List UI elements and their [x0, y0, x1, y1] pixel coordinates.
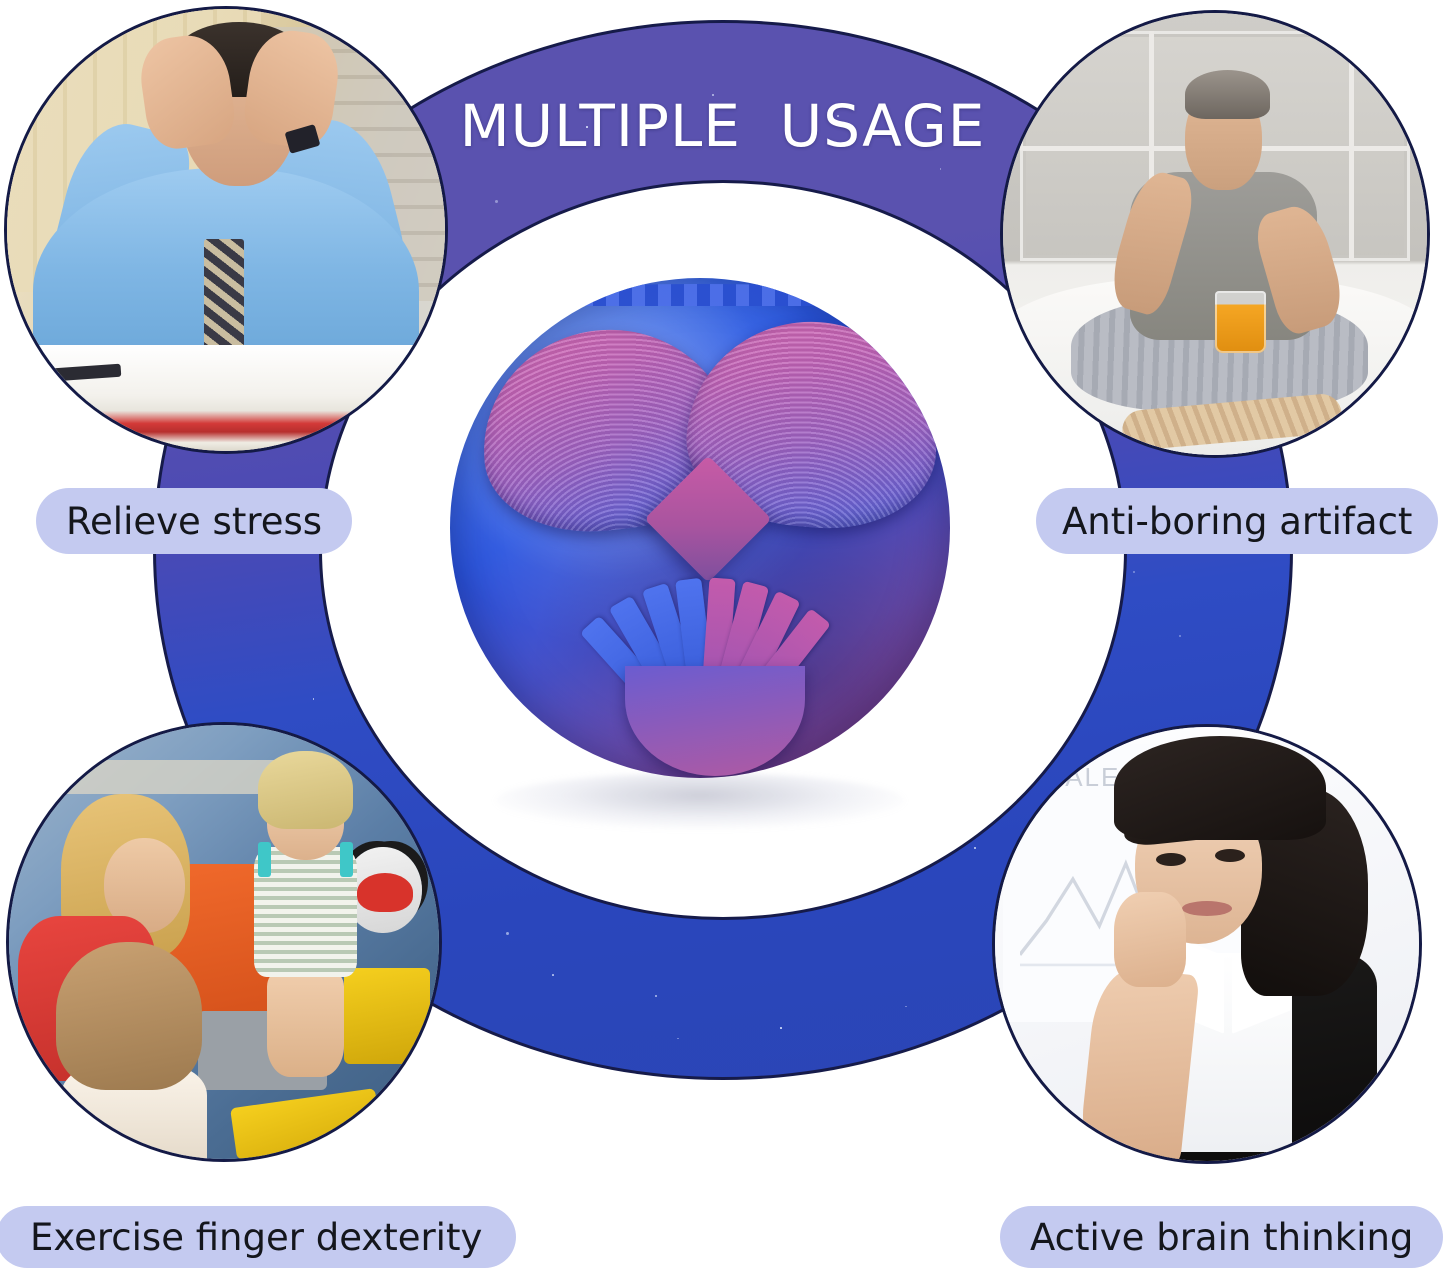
scene-bored-man-on-bed	[1003, 13, 1427, 455]
infographic-canvas: MULTIPLE USAGE	[0, 0, 1445, 1272]
usage-label-anti-boring-artifact: Anti-boring artifact	[1036, 488, 1438, 554]
usage-label-active-brain-thinking: Active brain thinking	[1000, 1206, 1443, 1268]
scene-stressed-businessman	[7, 9, 445, 451]
ball-top-gear-teeth	[450, 284, 950, 306]
usage-label-text: Active brain thinking	[1030, 1216, 1413, 1259]
product-image-gear-fidget-ball	[435, 268, 965, 828]
gear-ball-body	[450, 278, 950, 778]
usage-label-text: Exercise finger dexterity	[30, 1216, 482, 1259]
photo-exercise-finger-dexterity	[6, 722, 442, 1162]
usage-label-relieve-stress: Relieve stress	[36, 488, 352, 554]
scene-bored-office-woman: SALES	[995, 727, 1419, 1161]
product-shadow	[495, 773, 905, 829]
photo-relieve-stress	[4, 6, 448, 454]
photo-anti-boring-artifact	[1000, 10, 1430, 458]
usage-label-text: Relieve stress	[66, 500, 322, 543]
photo-active-brain-thinking: SALES	[992, 724, 1422, 1164]
usage-label-exercise-finger-dexterity: Exercise finger dexterity	[0, 1206, 516, 1268]
scene-mother-with-toddlers	[9, 725, 439, 1159]
usage-label-text: Anti-boring artifact	[1062, 500, 1412, 543]
